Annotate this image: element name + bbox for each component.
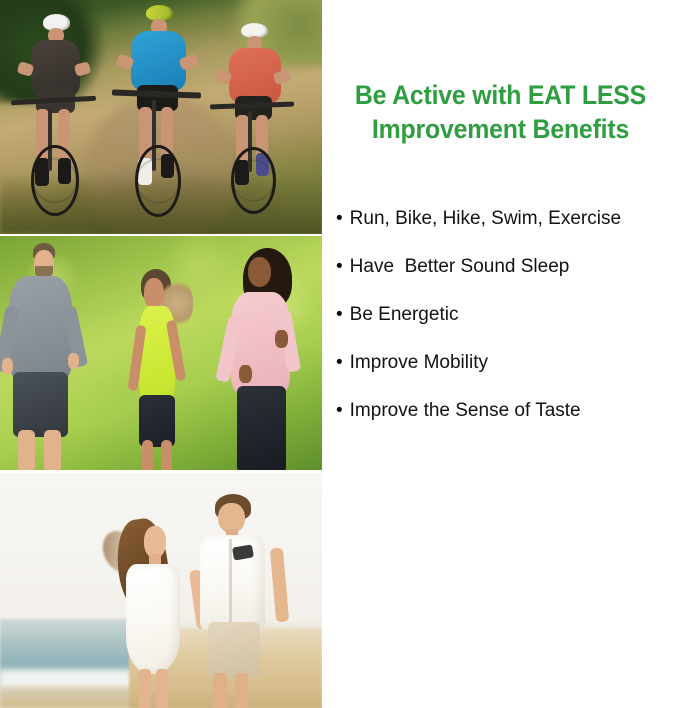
benefits-list: • Run, Bike, Hike, Swim, Exercise • Have…: [336, 207, 679, 447]
cyclist-right-coral-jersey: [213, 16, 316, 227]
photo-cyclists: [0, 0, 322, 234]
woman-white-dress: [116, 511, 200, 708]
list-item: • Have Better Sound Sleep: [336, 255, 679, 279]
bullet-icon: •: [336, 351, 343, 375]
bike-wheel: [135, 145, 181, 218]
list-item-label: Run, Bike, Hike, Swim, Exercise: [350, 207, 621, 231]
man-white-shirt: [193, 492, 283, 708]
page-title: Be Active with EAT LESS Improvement Bene…: [336, 78, 664, 146]
bike-wheel: [231, 147, 276, 214]
page-title-line-2: Improvement Benefits: [336, 112, 664, 146]
list-item-label: Improve the Sense of Taste: [350, 399, 581, 423]
bullet-icon: •: [336, 303, 343, 327]
list-item-label: Be Energetic: [350, 303, 459, 327]
list-item: • Improve the Sense of Taste: [336, 399, 679, 423]
list-item-label: Have Better Sound Sleep: [350, 255, 570, 279]
list-item: • Run, Bike, Hike, Swim, Exercise: [336, 207, 679, 231]
photo-column: [0, 0, 322, 708]
jogger-man-grey-shirt: [0, 236, 109, 470]
cyclist-center-blue-jersey: [116, 5, 222, 227]
jogger-woman-neon-tank: [119, 236, 209, 470]
photo-joggers: [0, 236, 322, 470]
advertisement-page: Be Active with EAT LESS Improvement Bene…: [0, 0, 679, 708]
bullet-icon: •: [336, 207, 343, 231]
jogger-woman-pink-top: [216, 236, 322, 470]
bike-wheel: [31, 145, 80, 216]
bullet-icon: •: [336, 255, 343, 279]
content-panel: Be Active with EAT LESS Improvement Bene…: [322, 0, 679, 708]
list-item: • Improve Mobility: [336, 351, 679, 375]
list-item-label: Improve Mobility: [350, 351, 488, 375]
list-item: • Be Energetic: [336, 303, 679, 327]
photo-beach-couple: [0, 473, 322, 708]
page-title-line-1: Be Active with EAT LESS: [355, 80, 646, 110]
cyclist-left-dark-jersey: [13, 12, 119, 227]
bullet-icon: •: [336, 399, 343, 423]
